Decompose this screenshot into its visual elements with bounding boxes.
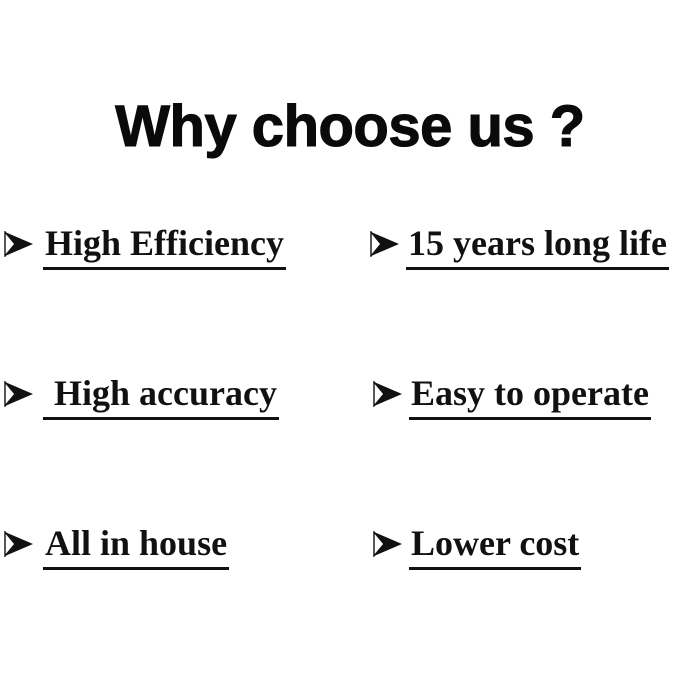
arrowhead-bullet-icon bbox=[370, 222, 400, 264]
arrowhead-bullet-icon bbox=[4, 372, 34, 414]
page-title: Why choose us ? bbox=[0, 92, 700, 162]
list-item-label: All in house bbox=[43, 522, 229, 570]
benefits-row: All in house Lower cost bbox=[0, 522, 700, 672]
list-item-easy-to-operate[interactable]: Easy to operate bbox=[373, 372, 651, 420]
benefits-row: High Efficiency 15 years long life bbox=[0, 222, 700, 372]
list-item-high-efficiency[interactable]: High Efficiency bbox=[4, 222, 286, 270]
list-item-label: High accuracy bbox=[43, 372, 279, 420]
list-item-high-accuracy[interactable]: High accuracy bbox=[4, 372, 279, 420]
list-item-label: 15 years long life bbox=[406, 222, 669, 270]
list-item-label: High Efficiency bbox=[43, 222, 286, 270]
list-item-label: Lower cost bbox=[409, 522, 581, 570]
arrowhead-bullet-icon bbox=[4, 522, 34, 564]
benefits-list: High Efficiency 15 years long life bbox=[0, 222, 700, 672]
benefits-row: High accuracy Easy to operate bbox=[0, 372, 700, 522]
arrowhead-bullet-icon bbox=[373, 372, 403, 414]
list-item-15-years-long-life[interactable]: 15 years long life bbox=[370, 222, 669, 270]
arrowhead-bullet-icon bbox=[373, 522, 403, 564]
list-item-lower-cost[interactable]: Lower cost bbox=[373, 522, 581, 570]
list-item-all-in-house[interactable]: All in house bbox=[4, 522, 229, 570]
slide-canvas: Why choose us ? High Efficiency bbox=[0, 0, 700, 700]
arrowhead-bullet-icon bbox=[4, 222, 34, 264]
list-item-label: Easy to operate bbox=[409, 372, 651, 420]
